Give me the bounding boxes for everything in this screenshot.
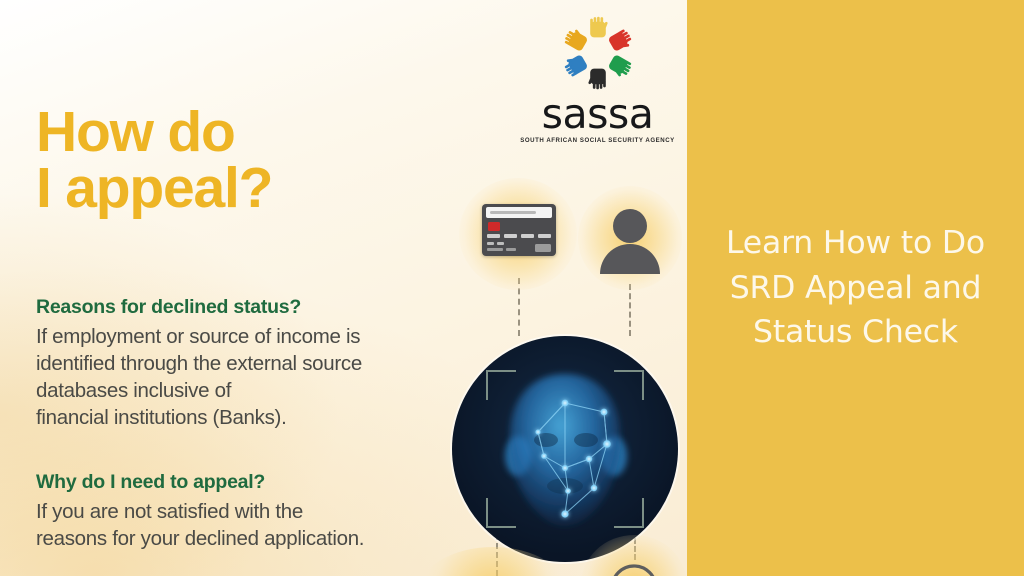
- scan-frame-brackets: [486, 370, 644, 528]
- fingerprint-icon: [586, 540, 682, 576]
- page-title: How do I appeal?: [36, 104, 272, 217]
- section-heading: Why do I need to appeal?: [36, 471, 451, 494]
- bottom-glow-blob: [418, 548, 568, 576]
- section-reasons-declined: Reasons for declined status? If employme…: [36, 296, 451, 431]
- logo-tagline: SOUTH AFRICAN SOCIAL SECURITY AGENCY: [520, 137, 675, 144]
- card-holder-blocks: [487, 248, 516, 251]
- infographic-banner: How do I appeal? Reasons for declined st…: [0, 0, 1024, 576]
- person-avatar-icon: [584, 192, 676, 284]
- face-scan-circle: [452, 336, 678, 562]
- avatar-head: [613, 209, 647, 243]
- bank-card-icon: [468, 190, 568, 278]
- card-chip: [488, 222, 500, 231]
- section-heading: Reasons for declined status?: [36, 296, 451, 319]
- card-magnetic-stripe: [486, 207, 552, 218]
- headline-line-2: I appeal?: [36, 160, 272, 216]
- sassa-logo: sassa SOUTH AFRICAN SOCIAL SECURITY AGEN…: [520, 14, 675, 144]
- card-body: [482, 204, 556, 256]
- card-brand-mark: [535, 244, 551, 252]
- card-number-blocks: [487, 234, 551, 238]
- section-why-appeal: Why do I need to appeal? If you are not …: [36, 471, 451, 552]
- section-body: If you are not satisfied with the reason…: [36, 498, 451, 552]
- connector-line-person: [629, 284, 631, 336]
- glow-halo: [418, 547, 568, 576]
- face-scan-icon: [452, 336, 678, 562]
- fingerprint-glyph: [606, 554, 662, 576]
- banner-title: Learn How to Do SRD Appeal and Status Ch…: [696, 221, 1016, 355]
- section-body: If employment or source of income is ide…: [36, 323, 451, 431]
- infographic-panel: How do I appeal? Reasons for declined st…: [0, 0, 687, 576]
- headline-line-1: How do: [36, 100, 235, 164]
- gold-title-panel: Learn How to Do SRD Appeal and Status Ch…: [687, 0, 1024, 576]
- sassa-handprint-logo-icon: [559, 14, 637, 92]
- logo-wordmark: sassa: [520, 96, 675, 134]
- card-expiry-blocks: [487, 242, 504, 245]
